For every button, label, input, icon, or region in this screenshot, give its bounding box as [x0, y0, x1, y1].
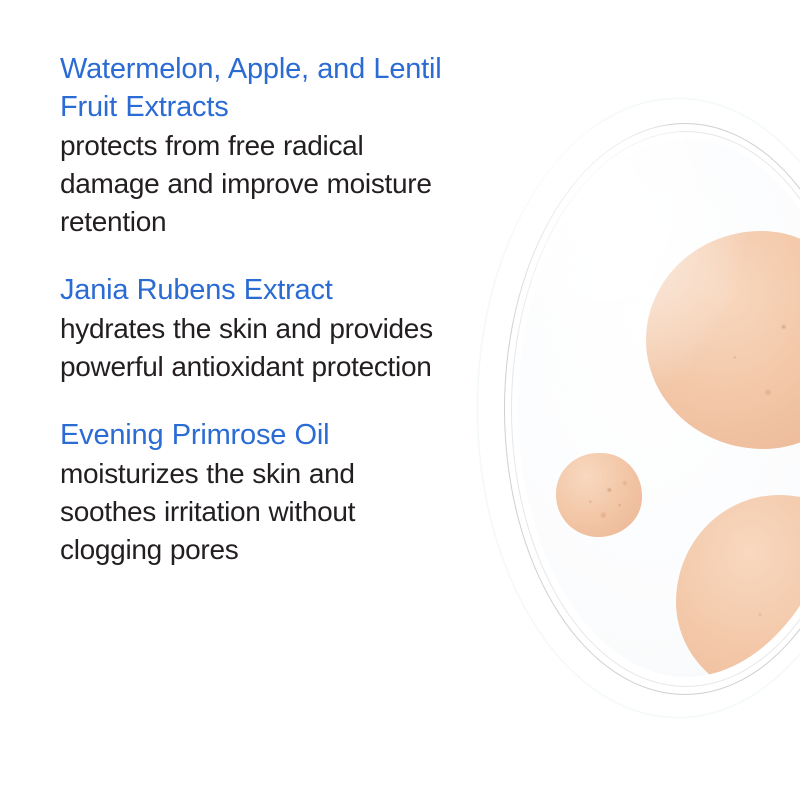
- ingredient-description: moisturizes the skin and soothes irritat…: [60, 455, 455, 569]
- ingredient-item-jania-rubens: Jania Rubens Extract hydrates the skin a…: [60, 271, 455, 386]
- petri-dish-glass-highlight: [506, 119, 756, 419]
- ingredient-description: hydrates the skin and provides powerful …: [60, 310, 455, 386]
- petri-dish-image: [470, 85, 800, 735]
- ingredient-description: protects from free radical damage and im…: [60, 127, 455, 241]
- ingredient-name: Jania Rubens Extract: [60, 271, 455, 309]
- ingredient-name: Evening Primrose Oil: [60, 416, 455, 454]
- ingredient-item-watermelon-apple-lentil: Watermelon, Apple, and Lentil Fruit Extr…: [60, 50, 455, 241]
- cream-droplet-small-center: [556, 453, 642, 537]
- cream-droplet-large-bottom: [676, 495, 800, 677]
- product-ingredient-panel: Watermelon, Apple, and Lentil Fruit Extr…: [0, 0, 800, 800]
- ingredient-benefits-list: Watermelon, Apple, and Lentil Fruit Extr…: [60, 50, 455, 569]
- ingredient-name: Watermelon, Apple, and Lentil Fruit Extr…: [60, 50, 455, 126]
- ingredient-item-evening-primrose-oil: Evening Primrose Oil moisturizes the ski…: [60, 416, 455, 569]
